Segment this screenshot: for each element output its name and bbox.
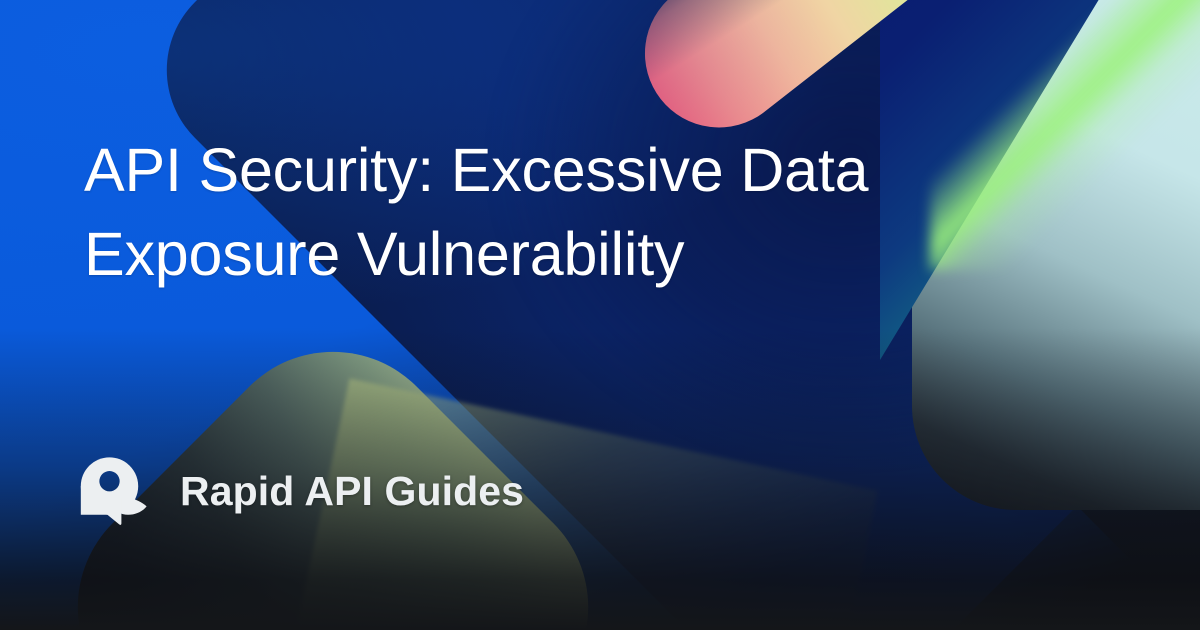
brand-name: Rapid API Guides — [180, 468, 524, 515]
page-title: API Security: Excessive DataExposure Vul… — [84, 128, 914, 296]
page-title-line-2: Exposure Vulnerability — [84, 220, 684, 288]
card-content: API Security: Excessive DataExposure Vul… — [0, 0, 1200, 630]
social-share-card: API Security: Excessive DataExposure Vul… — [0, 0, 1200, 630]
rapidapi-r-logo-icon — [78, 456, 148, 526]
page-title-line-1: API Security: Excessive Data — [84, 136, 868, 204]
brand-lockup: Rapid API Guides — [78, 456, 524, 526]
